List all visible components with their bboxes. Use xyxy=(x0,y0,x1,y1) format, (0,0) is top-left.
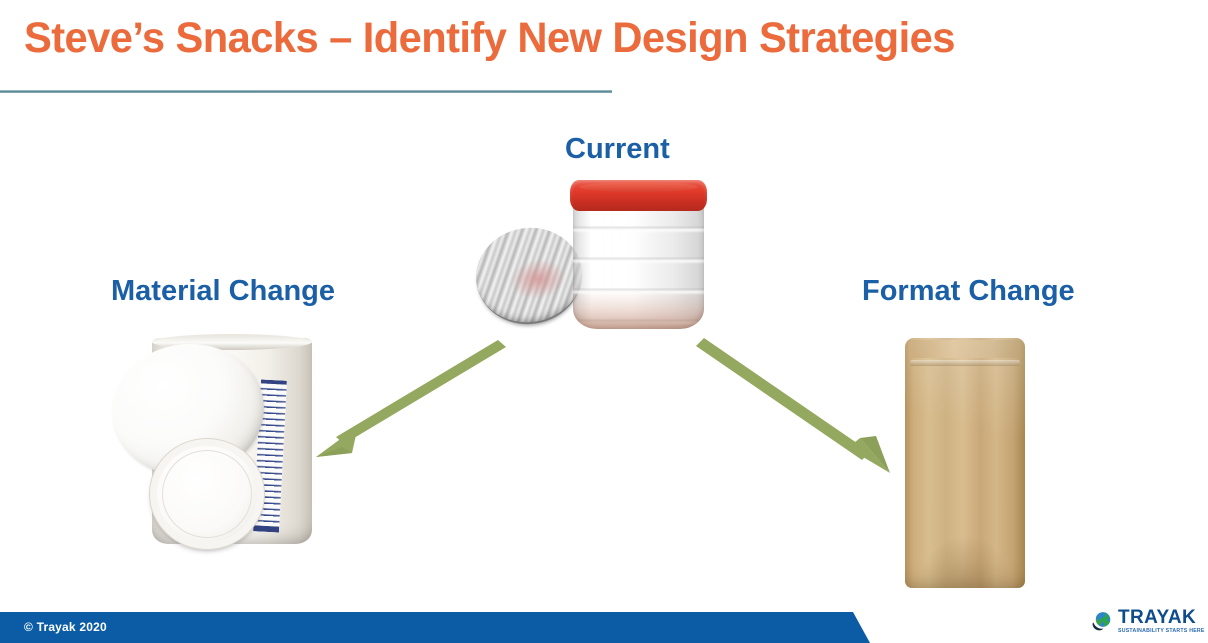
arrow-to-format-change-icon xyxy=(680,320,910,480)
label-material-change: Material Change xyxy=(111,275,335,308)
brand-wordmark: TRAYAK SUSTAINABILITY STARTS HERE xyxy=(1118,608,1205,634)
jar-red-lid xyxy=(570,180,707,211)
slide-canvas: Steve’s Snacks – Identify New Design Str… xyxy=(0,0,1208,643)
label-current: Current xyxy=(565,133,670,166)
pouch-zipper xyxy=(910,360,1020,366)
product-image-material-change xyxy=(112,332,338,560)
footer-copyright: © Trayak 2020 xyxy=(24,620,107,634)
clear-plastic-jar xyxy=(570,176,707,331)
label-format-change: Format Change xyxy=(862,275,1075,308)
globe-icon xyxy=(1092,610,1114,632)
canister-lid-disc xyxy=(149,438,265,550)
page-title: Steve’s Snacks – Identify New Design Str… xyxy=(24,14,955,63)
brand-logo: TRAYAK SUSTAINABILITY STARTS HERE xyxy=(1092,608,1205,634)
brand-tagline: SUSTAINABILITY STARTS HERE xyxy=(1118,629,1205,634)
title-divider-rule xyxy=(0,90,612,93)
brand-name: TRAYAK xyxy=(1118,608,1205,627)
pouch-top-seal xyxy=(909,340,1021,358)
jar-body xyxy=(573,202,704,329)
kraft-stand-up-pouch xyxy=(905,338,1025,588)
footer-bar xyxy=(0,612,870,643)
product-image-format-change xyxy=(905,338,1025,588)
